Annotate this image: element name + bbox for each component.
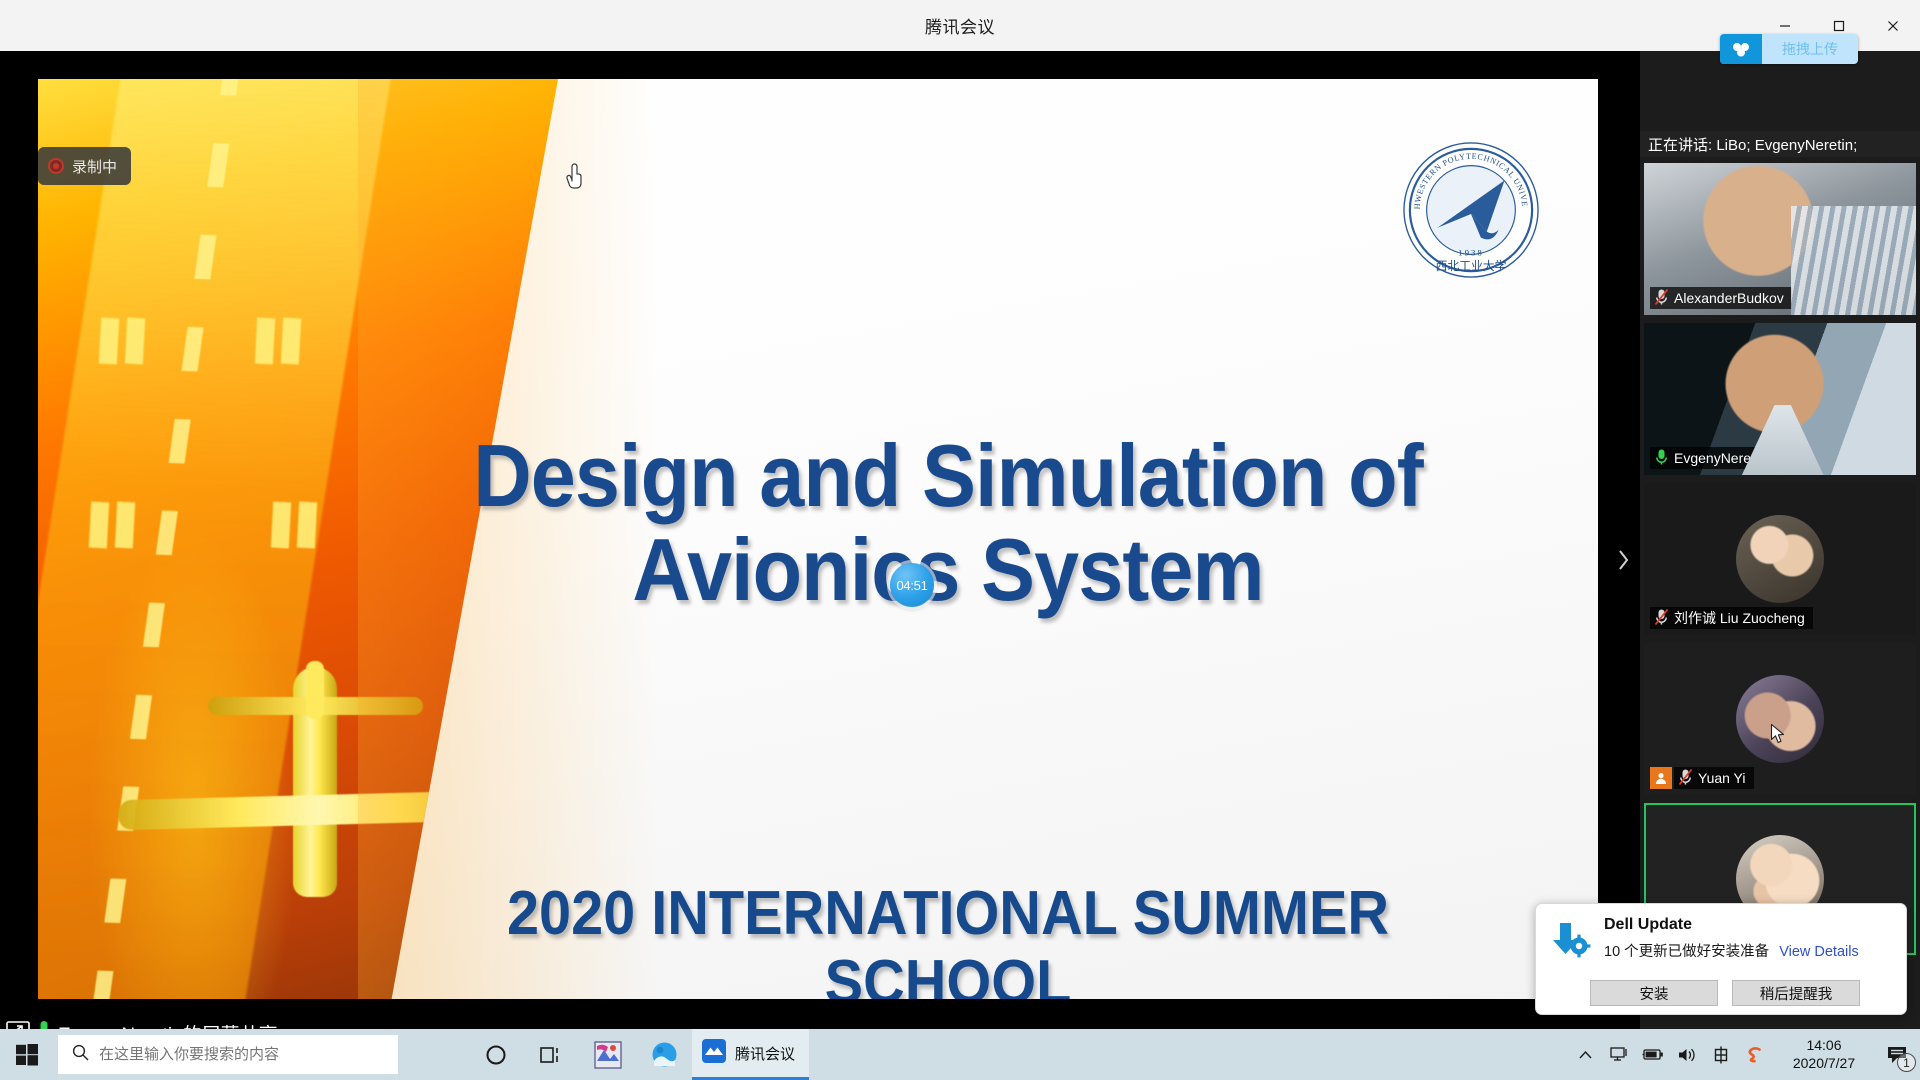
- notification-center-button[interactable]: 1: [1876, 1029, 1920, 1080]
- battery-icon[interactable]: [1636, 1029, 1670, 1080]
- dell-update-icon: [1550, 920, 1592, 962]
- participant-tiles: AlexanderBudkov EvgenyNeretin: [1640, 163, 1920, 963]
- airplane-graphic: [148, 667, 478, 947]
- presentation-slide: NORTHWESTERN POLYTECHNICAL UNIVERSITY 19…: [38, 79, 1598, 999]
- notification-description: 10 个更新已做好安装准备: [1604, 944, 1769, 960]
- volume-icon[interactable]: [1670, 1029, 1704, 1080]
- participant-tile-alexanderbudkov[interactable]: AlexanderBudkov: [1644, 163, 1916, 315]
- svg-text:1938: 1938: [1458, 247, 1484, 257]
- window-titlebar: 腾讯会议: [0, 0, 1920, 51]
- windows-taskbar: 腾讯会议: [0, 1029, 1920, 1080]
- mouse-cursor-icon: [1770, 723, 1786, 750]
- search-input[interactable]: [99, 1046, 359, 1063]
- mic-muted-icon: [1654, 608, 1669, 629]
- participant-tile-evgenyneretin[interactable]: EvgenyNeretin: [1644, 323, 1916, 475]
- recording-label: 录制中: [72, 156, 117, 177]
- collapse-panel-button[interactable]: [1612, 537, 1634, 583]
- show-hidden-icons-icon[interactable]: [1568, 1029, 1602, 1080]
- start-button[interactable]: [0, 1029, 54, 1080]
- slide-subtitle: 2020 INTERNATIONAL SUMMER SCHOOL: [474, 879, 1423, 999]
- notification-count-badge: 1: [1897, 1053, 1916, 1072]
- window-title: 腾讯会议: [925, 13, 995, 38]
- meeting-timer-bubble[interactable]: 04:51: [890, 563, 934, 607]
- mic-muted-icon: [1654, 288, 1669, 309]
- participant-name-badge: Yuan Yi: [1674, 767, 1754, 789]
- notification-actions: 安装 稍后提醒我: [1590, 980, 1860, 1006]
- ime-icon[interactable]: [1704, 1029, 1738, 1080]
- drag-upload-label: 拖拽上传: [1762, 39, 1858, 59]
- view-details-link[interactable]: View Details: [1779, 944, 1859, 960]
- cloud-upload-icon: [1720, 34, 1762, 64]
- participant-rail: 拖拽上传 正在讲话: LiBo; EvgenyNeretin; Alexande…: [1640, 51, 1920, 1051]
- host-badge-icon: [1650, 767, 1672, 789]
- slide-title: Design and Simulation of Avionics System: [405, 429, 1491, 617]
- taskbar-search-box[interactable]: [58, 1035, 398, 1074]
- mic-active-icon: [1654, 448, 1669, 469]
- participant-name-badge: 刘作诚 Liu Zuocheng: [1650, 607, 1813, 629]
- notification-body: 10 个更新已做好安装准备 View Details: [1604, 940, 1892, 961]
- participant-name: EvgenyNeretin: [1674, 450, 1766, 466]
- search-icon: [72, 1044, 89, 1066]
- install-button[interactable]: 安装: [1590, 980, 1718, 1006]
- drag-upload-badge[interactable]: 拖拽上传: [1720, 34, 1858, 64]
- clock-time: 14:06: [1806, 1037, 1841, 1055]
- cortana-icon[interactable]: [468, 1029, 524, 1080]
- browser-icon[interactable]: [636, 1029, 692, 1080]
- taskbar-clock[interactable]: 14:06 2020/7/27: [1772, 1029, 1876, 1080]
- participant-tile-yuanyi[interactable]: Yuan Yi: [1644, 643, 1916, 795]
- taskbar-app-tencent-meeting[interactable]: 腾讯会议: [692, 1029, 809, 1080]
- meeting-window-body: NORTHWESTERN POLYTECHNICAL UNIVERSITY 19…: [0, 51, 1920, 1051]
- tencent-meeting-icon: [702, 1039, 726, 1067]
- system-tray: 14:06 2020/7/27 1: [1568, 1029, 1920, 1080]
- notification-title: Dell Update: [1604, 916, 1892, 934]
- recording-indicator: 录制中: [38, 147, 131, 185]
- task-view-icon[interactable]: [524, 1029, 580, 1080]
- speaking-now-label: 正在讲话: LiBo; EvgenyNeretin;: [1640, 131, 1920, 157]
- clock-date: 2020/7/27: [1793, 1055, 1855, 1073]
- participant-name: AlexanderBudkov: [1674, 290, 1784, 306]
- avatar: [1736, 515, 1824, 603]
- participant-name: Yuan Yi: [1698, 770, 1746, 786]
- sogou-input-icon[interactable]: [1738, 1029, 1772, 1080]
- university-logo-icon: NORTHWESTERN POLYTECHNICAL UNIVERSITY 19…: [1402, 141, 1540, 279]
- svg-text:西北工业大学: 西北工业大学: [1436, 259, 1507, 273]
- mic-muted-icon: [1678, 768, 1693, 789]
- close-button[interactable]: [1866, 0, 1920, 51]
- participant-name: 刘作诚 Liu Zuocheng: [1674, 608, 1805, 628]
- photos-app-icon[interactable]: [580, 1029, 636, 1080]
- hand-cursor-icon: [565, 161, 587, 196]
- participant-tile-liuzuocheng[interactable]: 刘作诚 Liu Zuocheng: [1644, 483, 1916, 635]
- record-dot-icon: [48, 158, 64, 174]
- network-icon[interactable]: [1602, 1029, 1636, 1080]
- shared-screen-area[interactable]: NORTHWESTERN POLYTECHNICAL UNIVERSITY 19…: [0, 51, 1640, 1051]
- remind-later-button[interactable]: 稍后提醒我: [1732, 980, 1860, 1006]
- participant-name-badge: EvgenyNeretin: [1650, 447, 1774, 469]
- participant-name-badge: AlexanderBudkov: [1650, 287, 1792, 309]
- taskbar-app-label: 腾讯会议: [735, 1043, 795, 1064]
- dell-update-notification[interactable]: Dell Update 10 个更新已做好安装准备 View Details 安…: [1535, 903, 1907, 1015]
